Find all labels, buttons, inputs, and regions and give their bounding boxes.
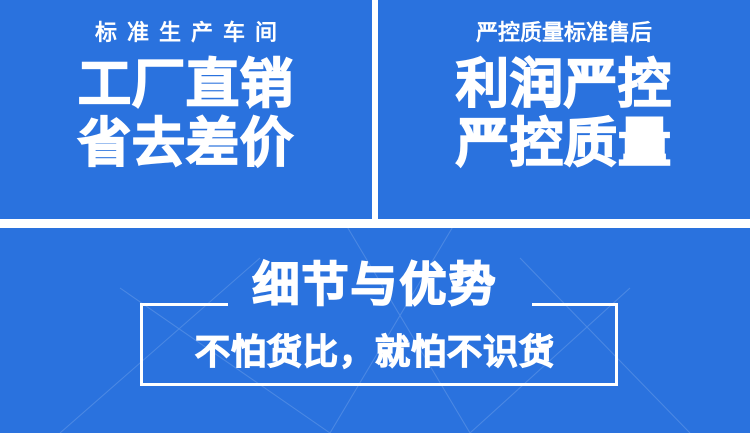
panel-quality-control-content: 严控质量标准售后 利润严控 严控质量: [378, 0, 750, 219]
details-subtitle: 不怕货比，就怕不识货: [0, 335, 750, 370]
panel-factory-direct-headline-line1: 工厂直销: [78, 56, 294, 113]
panel-factory-direct: 标准生产车间 工厂直销 省去差价: [0, 0, 372, 219]
panel-quality-control: 严控质量标准售后 利润严控 严控质量: [378, 0, 750, 219]
top-panel-row: 标准生产车间 工厂直销 省去差价 严控质量标准售后 利润严控 严控质量: [0, 0, 750, 219]
panel-quality-control-headline-line1: 利润严控: [456, 56, 672, 113]
panel-quality-control-eyebrow: 严控质量标准售后: [476, 22, 652, 44]
panel-factory-direct-content: 标准生产车间 工厂直销 省去差价: [0, 0, 372, 219]
panel-quality-control-headline-line2: 严控质量: [456, 115, 672, 172]
promo-banner: 标准生产车间 工厂直销 省去差价 严控质量标准售后 利润严控 严控质量: [0, 0, 750, 440]
details-title: 细节与优势: [0, 261, 750, 308]
panel-factory-direct-headline-line2: 省去差价: [78, 115, 294, 172]
panel-factory-direct-eyebrow: 标准生产车间: [85, 22, 287, 44]
